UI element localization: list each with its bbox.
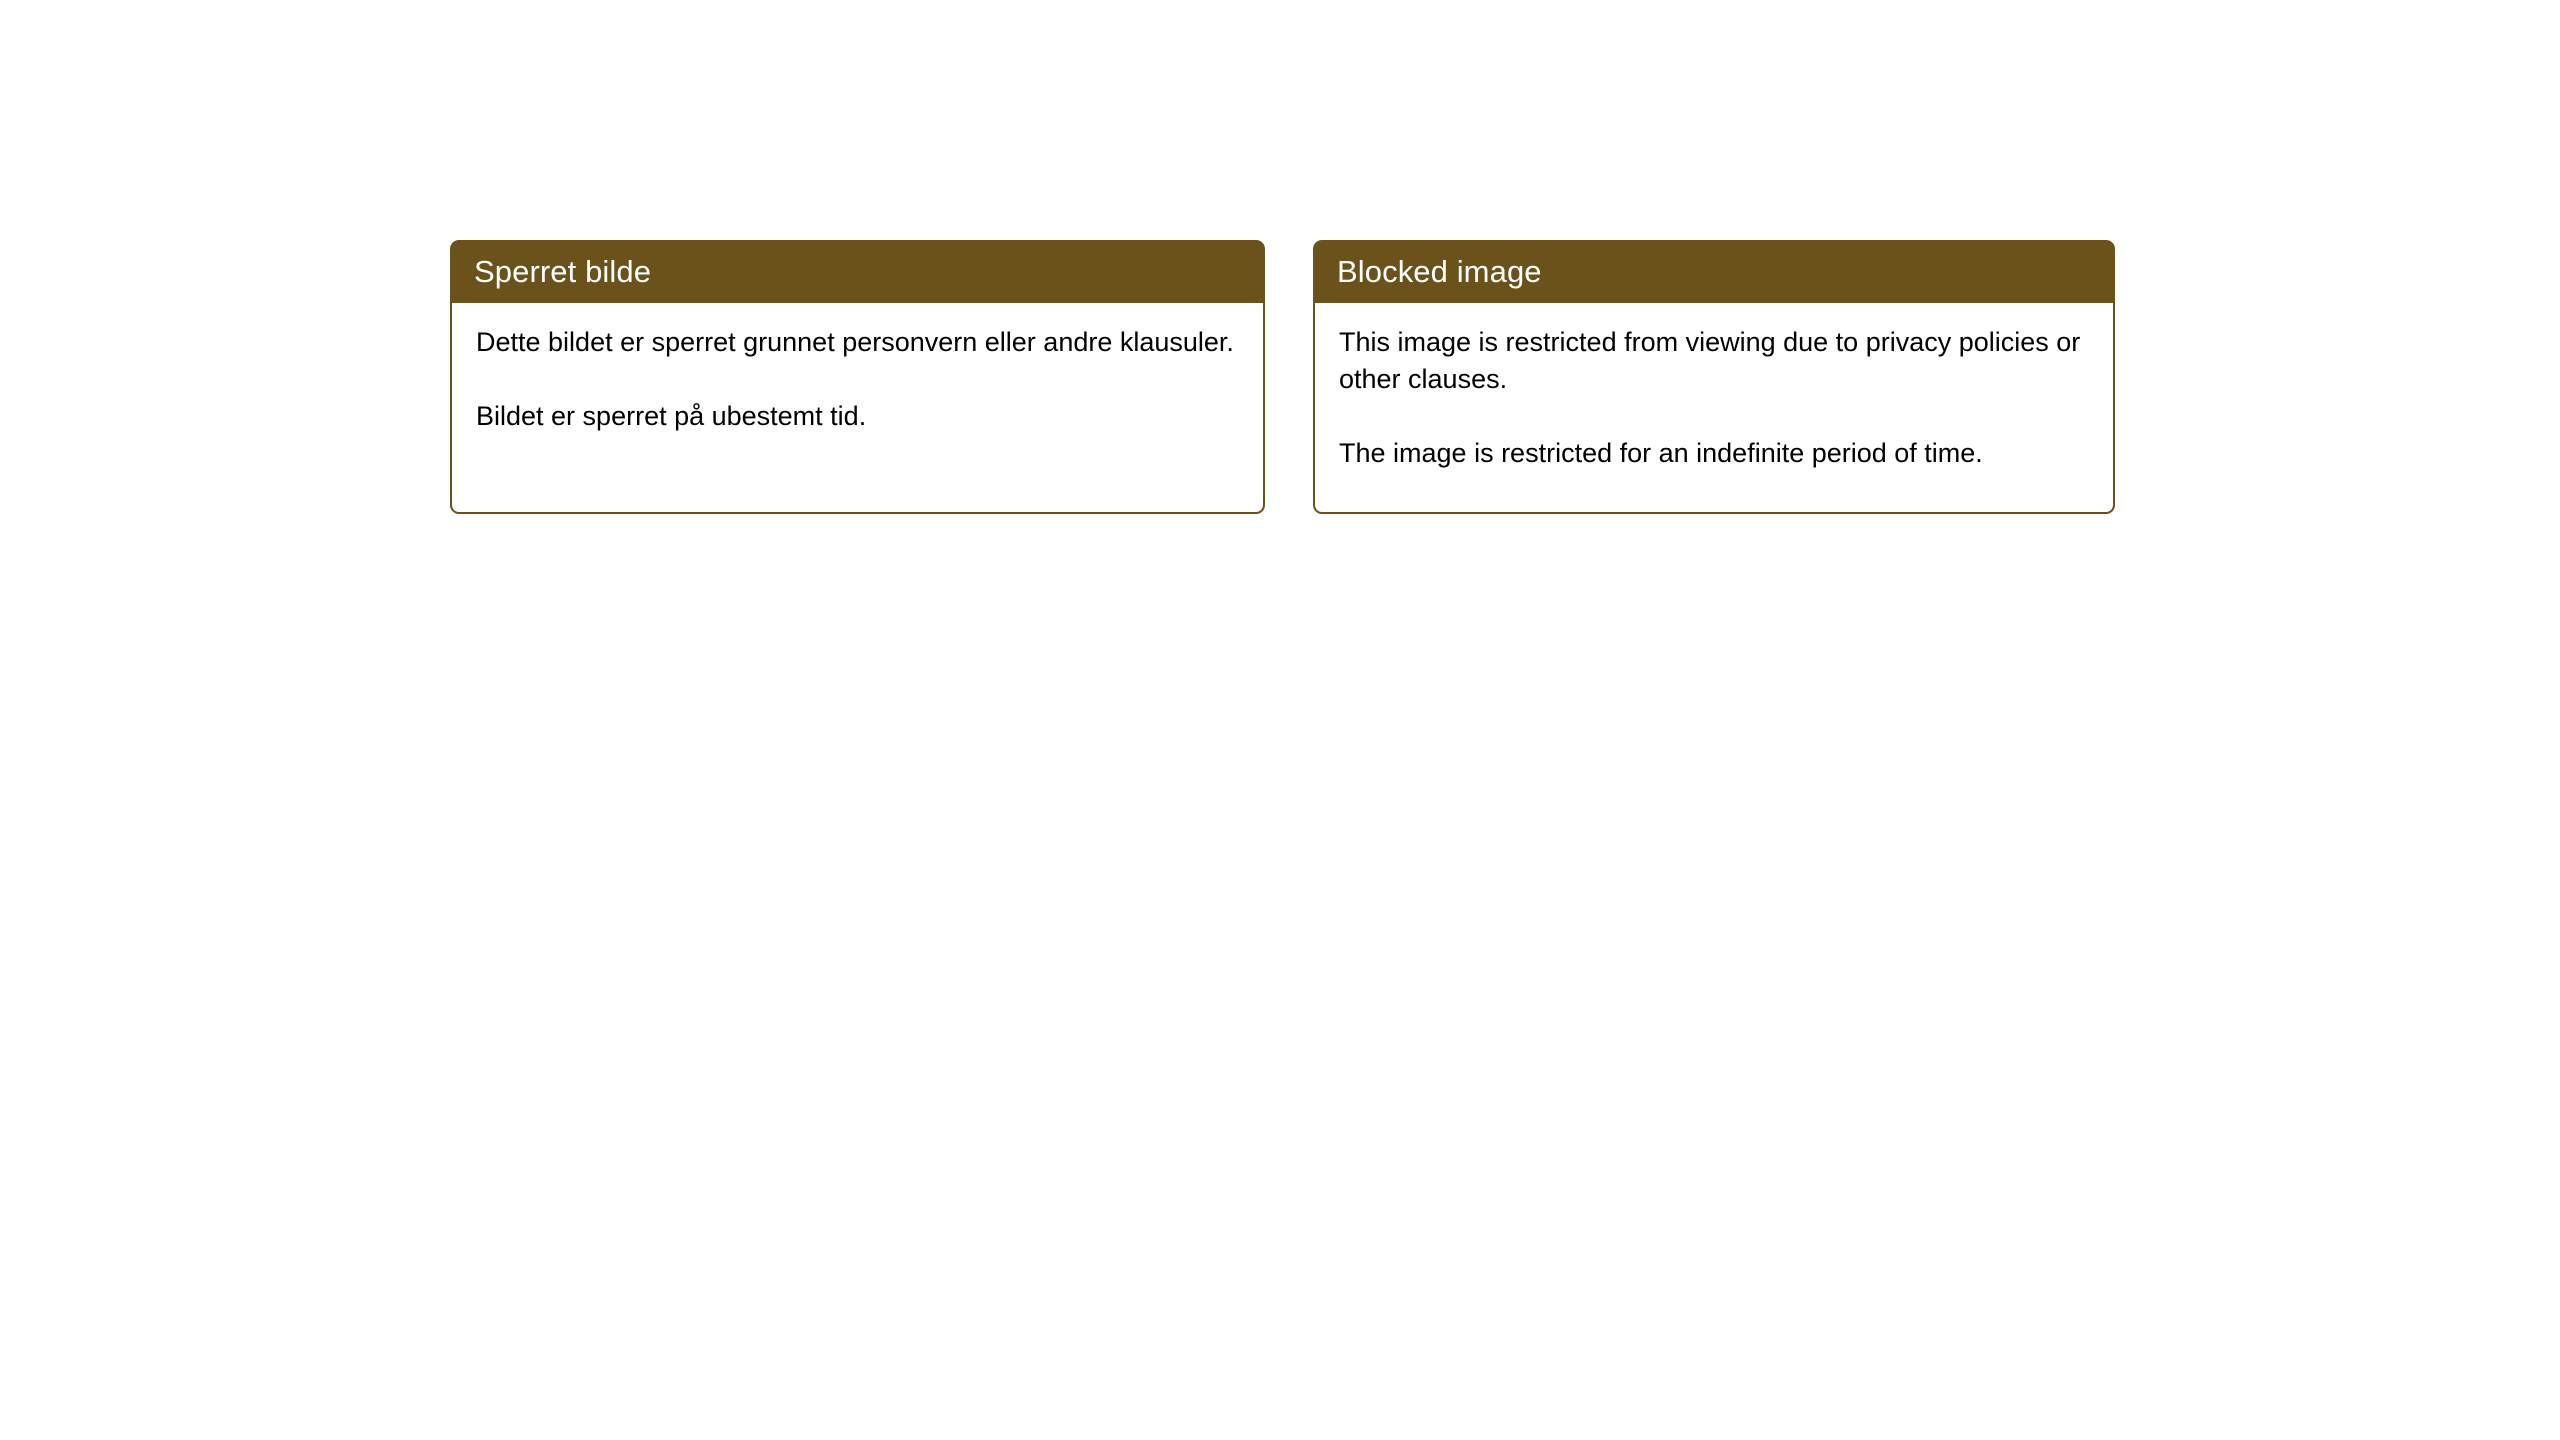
blocked-image-notice-group: Sperret bilde Dette bildet er sperret gr… bbox=[450, 240, 2115, 514]
panel-paragraph-2-norwegian: Bildet er sperret på ubestemt tid. bbox=[476, 398, 1239, 435]
panel-title-english: Blocked image bbox=[1337, 256, 1542, 287]
panel-paragraph-1-norwegian: Dette bildet er sperret grunnet personve… bbox=[476, 324, 1239, 361]
blocked-image-panel-norwegian: Sperret bilde Dette bildet er sperret gr… bbox=[450, 240, 1265, 514]
panel-header-english: Blocked image bbox=[1313, 240, 2115, 303]
panel-body-english: This image is restricted from viewing du… bbox=[1313, 302, 2115, 514]
panel-paragraph-2-english: The image is restricted for an indefinit… bbox=[1339, 435, 2089, 472]
blocked-image-panel-english: Blocked image This image is restricted f… bbox=[1313, 240, 2115, 514]
panel-body-norwegian: Dette bildet er sperret grunnet personve… bbox=[450, 302, 1265, 514]
paragraph-spacer bbox=[476, 361, 1239, 398]
panel-title-norwegian: Sperret bilde bbox=[474, 256, 651, 287]
paragraph-spacer bbox=[1339, 398, 2089, 435]
panel-paragraph-1-english: This image is restricted from viewing du… bbox=[1339, 324, 2089, 398]
panel-header-norwegian: Sperret bilde bbox=[450, 240, 1265, 303]
